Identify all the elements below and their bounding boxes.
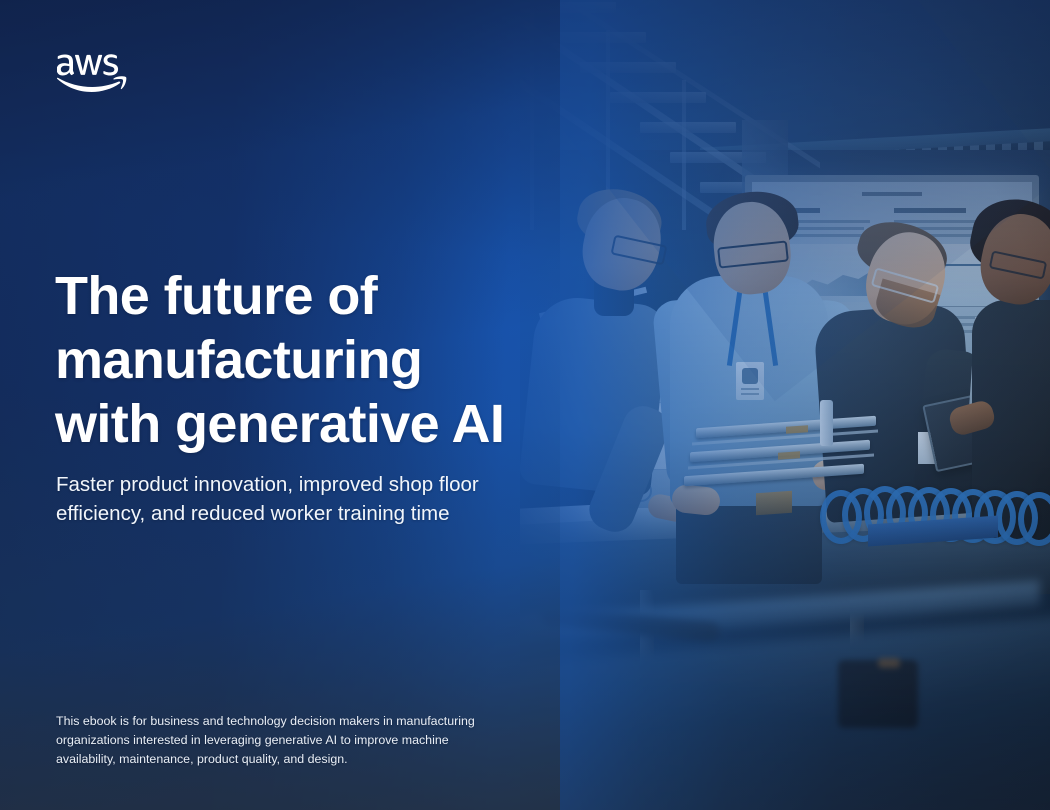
aws-logo [57, 50, 135, 98]
audience-description: This ebook is for business and technolog… [56, 712, 506, 768]
cover-content: The future of manufacturing with generat… [0, 0, 1050, 810]
page-title: The future of manufacturing with generat… [55, 264, 525, 456]
page-subtitle: Faster product innovation, improved shop… [56, 470, 536, 528]
ebook-cover-page: The future of manufacturing with generat… [0, 0, 1050, 810]
